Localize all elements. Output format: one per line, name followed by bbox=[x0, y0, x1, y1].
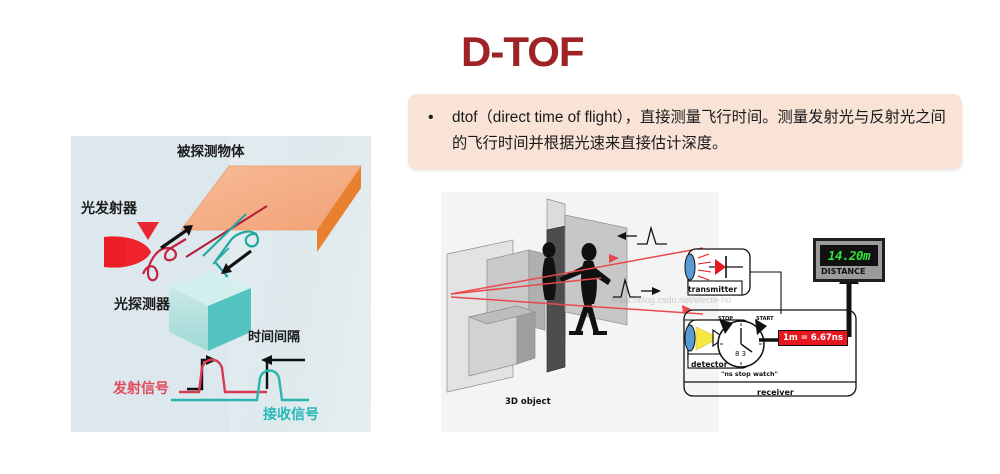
conversion-badge: 1m = 6.67ns bbox=[778, 330, 848, 346]
bullet-text: dtof（direct time of flight），直接测量飞行时间。测量发… bbox=[452, 105, 946, 157]
label-detector: detector bbox=[691, 360, 727, 369]
right-illustration-tof-system: 8 3 14.20m DISTANCE 3D object transmitte… bbox=[441, 192, 910, 432]
label-receiver: receiver bbox=[757, 388, 794, 397]
label-stop: STOP bbox=[718, 316, 733, 322]
page-title: D-TOF bbox=[461, 31, 584, 73]
label-rx-signal: 接收信号 bbox=[263, 404, 319, 424]
slide-canvas: D-TOF • dtof（direct time of flight），直接测量… bbox=[0, 0, 1000, 474]
bullet-callout-box: • dtof（direct time of flight），直接测量飞行时间。测… bbox=[408, 94, 962, 169]
label-tx-signal: 发射信号 bbox=[113, 378, 169, 398]
watermark-text: https://blog.csdn.net/electe-ho bbox=[611, 295, 731, 305]
light-emitter-cone bbox=[104, 236, 151, 267]
svg-text:8 3: 8 3 bbox=[735, 350, 746, 358]
left-illustration-dtof-principle: 被探测物体 光发射器 光探测器 时间间隔 发射信号 接收信号 bbox=[71, 136, 371, 432]
label-time-interval: 时间间隔 bbox=[248, 326, 300, 345]
bullet-point-icon: • bbox=[426, 105, 452, 130]
label-distance-caption: DISTANCE bbox=[821, 267, 865, 276]
distance-lcd-value: 14.20m bbox=[820, 246, 878, 265]
emitter-arrow-marker bbox=[137, 222, 159, 240]
label-3d-object: 3D object bbox=[505, 397, 551, 407]
label-light-emitter: 光发射器 bbox=[81, 198, 137, 218]
scene-3d-object bbox=[447, 199, 627, 392]
bullet-row: • dtof（direct time of flight），直接测量飞行时间。测… bbox=[426, 105, 946, 157]
label-photodetector: 光探测器 bbox=[114, 294, 170, 314]
label-start: START bbox=[756, 316, 774, 322]
label-transmitter: transmitter bbox=[688, 285, 737, 294]
right-figure-graphics: 8 3 bbox=[441, 192, 910, 432]
label-detected-object: 被探测物体 bbox=[177, 140, 245, 160]
label-ns-stop-watch: "ns stop watch" bbox=[721, 370, 778, 378]
